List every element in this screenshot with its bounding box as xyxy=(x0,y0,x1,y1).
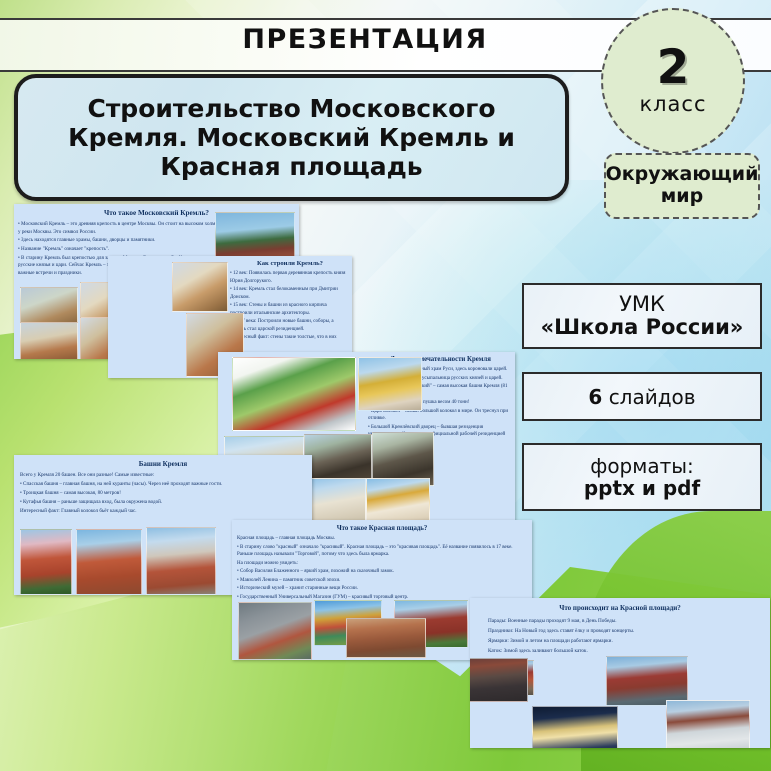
slide-bullet: • 12 век: Появилась первая деревянная кр… xyxy=(230,270,348,285)
slide-bullet: Всего у Кремля 20 башен. Все они разные!… xyxy=(20,472,306,480)
slide-count-label: слайдов xyxy=(609,385,696,409)
formats-box: форматы: pptx и pdf xyxy=(522,443,762,511)
slide-bullet: • Кутафья башня – раньше защищала вход, … xyxy=(20,499,306,507)
slide-bullet: Парады: Военные парады проходят 9 мая, в… xyxy=(488,617,752,626)
slide-bullet: • Здесь находятся главные храмы, башни, … xyxy=(18,237,218,245)
slide-image-military-parade xyxy=(470,658,528,702)
slide-body: Парады: Военные парады проходят 9 мая, в… xyxy=(470,617,770,655)
slide-bullet: • 14 век: Кремль стал белокаменным при Д… xyxy=(230,286,348,301)
slide-bullet: • 15 век: Стены и башни из красного кирп… xyxy=(230,302,348,317)
slide-body: Всего у Кремля 20 башен. Все они разные!… xyxy=(14,472,312,515)
slide-image-kutafya-tower xyxy=(146,527,216,595)
slide-image-kremlin-map xyxy=(232,357,356,431)
slide-count-number: 6 xyxy=(588,385,602,409)
slide-fact: Интересный факт: Главный колокол бьёт ка… xyxy=(20,508,306,516)
class-number: 2 xyxy=(657,46,690,89)
slide-title: Что такое Красная площадь? xyxy=(232,525,532,532)
slide-image-red-square-aerial xyxy=(238,602,312,660)
slide-image-troitskaya-tower xyxy=(76,529,142,595)
slide-bullet: • Троицкая башня – самая высокая, 80 мет… xyxy=(20,490,306,498)
slide-title: Башни Кремля xyxy=(14,460,312,468)
slide-image-tsar-cannon xyxy=(304,434,372,484)
slide-body: Красная площадь – главная площадь Москвы… xyxy=(232,535,532,601)
class-badge: 2 класс xyxy=(601,8,745,154)
slide-bullet: • Название "Кремль" означает "крепость". xyxy=(18,246,218,254)
presentation-title-text: Строительство Московского Кремля. Москов… xyxy=(18,94,565,181)
slide-subhead: На площади можно увидеть: xyxy=(237,560,527,568)
subject-label: Окружающий мир xyxy=(606,164,759,207)
slide-bullet: Ярмарки: Зимой и летом на площади работа… xyxy=(488,637,752,646)
slide-fact: Интересный факт: стены такие толстые, чт… xyxy=(230,334,348,349)
slide-bullet: Каток: Зимой здесь заливают большой като… xyxy=(488,647,752,656)
class-label: класс xyxy=(639,92,706,116)
slide-image-red-square-fair xyxy=(606,656,688,706)
slide-title: Что происходит на Красной площади? xyxy=(470,604,770,612)
slide-bullet: • Московский Кремль – это древняя крепос… xyxy=(18,221,218,236)
slide-bullet: • 16-17 века: Построили новые башни, соб… xyxy=(230,318,348,333)
slide-count-box: 6 слайдов xyxy=(522,372,762,421)
slide-image-old-painting-3 xyxy=(20,322,78,359)
subject-badge: Окружающий мир xyxy=(604,153,760,219)
presentation-title-box: Строительство Московского Кремля. Москов… xyxy=(14,74,569,201)
umk-line-1: УМК xyxy=(541,293,744,316)
slide-image-spasskaya-tower xyxy=(20,529,72,595)
slide-bullet: • Спасская башня – главная башня, на ней… xyxy=(20,481,306,489)
slide-image-winter-fair-night xyxy=(532,706,618,748)
formats-line-1: форматы: xyxy=(584,455,700,477)
umk-line-2: «Школа России» xyxy=(541,316,744,339)
poster-canvas: ПРЕЗЕНТАЦИЯ Строительство Московского Кр… xyxy=(0,0,771,771)
slide-image-lenin-mausoleum xyxy=(346,618,426,658)
slide-bullet: • В старину слово "красный" означало "кр… xyxy=(237,544,527,559)
slide-bullet: • Исторический музей – хранит старинные … xyxy=(237,585,527,593)
slide-thumbnail[interactable]: Что происходит на Красной площади? Парад… xyxy=(470,598,770,748)
slide-title: Как строили Кремль? xyxy=(228,260,352,267)
slide-bullet: Праздники: На Новый год здесь ставят ёлк… xyxy=(488,627,752,636)
slide-bullet: • Собор Василия Блаженного – яркий храм,… xyxy=(237,568,527,576)
slide-bullet: Красная площадь – главная площадь Москвы… xyxy=(237,535,527,543)
slide-image-ice-rink xyxy=(666,700,750,748)
slide-image-uspensky-cathedral xyxy=(358,357,422,411)
slide-bullet: • Мавзолей Ленина – памятник советской э… xyxy=(237,577,527,585)
slide-image-old-painting-5 xyxy=(172,262,228,312)
formats-line-2: pptx и pdf xyxy=(584,477,700,499)
umk-info-box: УМК «Школа России» xyxy=(522,283,762,349)
